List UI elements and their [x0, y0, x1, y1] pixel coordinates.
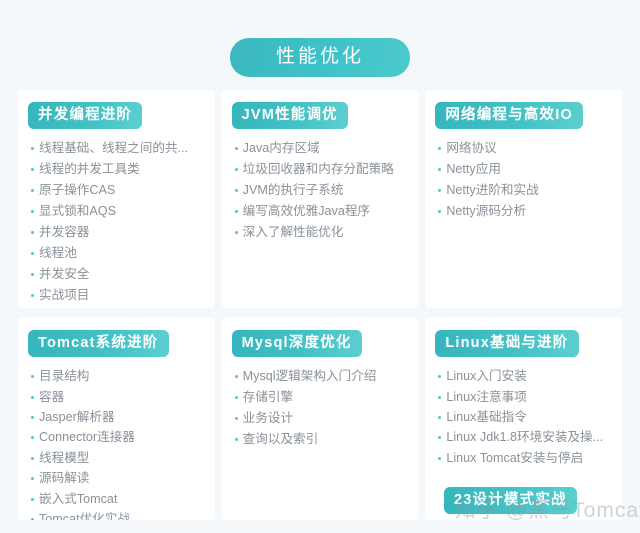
card-item-list: 线程基础、线程之间的共... 线程的并发工具类 原子操作CAS 显式锁和AQS …: [18, 138, 215, 308]
list-item[interactable]: JMM和底层实现原理: [30, 306, 207, 308]
card-item-list: Mysql逻辑架构入门介绍 存储引擎 业务设计 查询以及索引: [222, 366, 419, 450]
list-item[interactable]: 原子操作CAS: [30, 180, 207, 201]
card-item-list: Java内存区域 垃圾回收器和内存分配策略 JVM的执行子系统 编写高效优雅Ja…: [222, 138, 419, 243]
list-item[interactable]: Tomcat优化实战: [30, 509, 207, 520]
page-title-container: 性能优化: [0, 38, 640, 77]
list-item[interactable]: 编写高效优雅Java程序: [234, 201, 411, 222]
list-item[interactable]: 目录结构: [30, 366, 207, 386]
list-item[interactable]: Linux Jdk1.8环境安装及操...: [437, 427, 614, 447]
list-item[interactable]: 容器: [30, 387, 207, 407]
list-item[interactable]: Connector连接器: [30, 427, 207, 447]
list-item[interactable]: Netty应用: [437, 159, 614, 180]
list-item[interactable]: Netty源码分析: [437, 201, 614, 222]
card-title-badge: 并发编程进阶: [28, 102, 142, 129]
card-title-badge: 网络编程与高效IO: [435, 102, 583, 129]
list-item[interactable]: 线程模型: [30, 448, 207, 468]
topic-card-concurrency[interactable]: 并发编程进阶 线程基础、线程之间的共... 线程的并发工具类 原子操作CAS 显…: [18, 90, 215, 308]
list-item[interactable]: 存储引擎: [234, 387, 411, 408]
topic-card-grid: 并发编程进阶 线程基础、线程之间的共... 线程的并发工具类 原子操作CAS 显…: [18, 90, 622, 520]
topic-card-mysql[interactable]: Mysql深度优化 Mysql逻辑架构入门介绍 存储引擎 业务设计 查询以及索引: [222, 318, 419, 520]
list-item[interactable]: Linux Tomcat安装与停启: [437, 448, 614, 468]
list-item[interactable]: 深入了解性能优化: [234, 222, 411, 243]
topic-card-network-io[interactable]: 网络编程与高效IO 网络协议 Netty应用 Netty进阶和实战 Netty源…: [425, 90, 622, 308]
list-item[interactable]: 源码解读: [30, 468, 207, 488]
list-item[interactable]: 并发容器: [30, 222, 207, 243]
list-item[interactable]: 嵌入式Tomcat: [30, 489, 207, 509]
list-item[interactable]: Jasper解析器: [30, 407, 207, 427]
list-item[interactable]: Java内存区域: [234, 138, 411, 159]
list-item[interactable]: 垃圾回收器和内存分配策略: [234, 159, 411, 180]
page-title: 性能优化: [230, 38, 410, 77]
list-item[interactable]: JVM的执行子系统: [234, 180, 411, 201]
card-title-badge: Mysql深度优化: [232, 330, 362, 357]
next-section-badge[interactable]: 23设计模式实战: [444, 487, 577, 514]
list-item[interactable]: 实战项目: [30, 285, 207, 306]
list-item[interactable]: Mysql逻辑架构入门介绍: [234, 366, 411, 387]
list-item[interactable]: 并发安全: [30, 264, 207, 285]
card-title-badge: Tomcat系统进阶: [28, 330, 169, 357]
list-item[interactable]: 线程的并发工具类: [30, 159, 207, 180]
card-title-badge: Linux基础与进阶: [435, 330, 578, 357]
list-item[interactable]: 线程池: [30, 243, 207, 264]
card-item-list: Linux入门安装 Linux注意事项 Linux基础指令 Linux Jdk1…: [425, 366, 622, 468]
list-item[interactable]: 网络协议: [437, 138, 614, 159]
list-item[interactable]: Netty进阶和实战: [437, 180, 614, 201]
list-item[interactable]: Linux基础指令: [437, 407, 614, 427]
list-item[interactable]: 线程基础、线程之间的共...: [30, 138, 207, 159]
list-item[interactable]: Linux入门安装: [437, 366, 614, 386]
list-item[interactable]: 业务设计: [234, 408, 411, 429]
topic-card-tomcat[interactable]: Tomcat系统进阶 目录结构 容器 Jasper解析器 Connector连接…: [18, 318, 215, 520]
list-item[interactable]: 查询以及索引: [234, 429, 411, 450]
list-item[interactable]: 显式锁和AQS: [30, 201, 207, 222]
list-item[interactable]: Linux注意事项: [437, 387, 614, 407]
card-title-badge: JVM性能调优: [232, 102, 348, 129]
card-item-list: 网络协议 Netty应用 Netty进阶和实战 Netty源码分析: [425, 138, 622, 222]
card-item-list: 目录结构 容器 Jasper解析器 Connector连接器 线程模型 源码解读…: [18, 366, 215, 520]
topic-card-jvm[interactable]: JVM性能调优 Java内存区域 垃圾回收器和内存分配策略 JVM的执行子系统 …: [222, 90, 419, 308]
